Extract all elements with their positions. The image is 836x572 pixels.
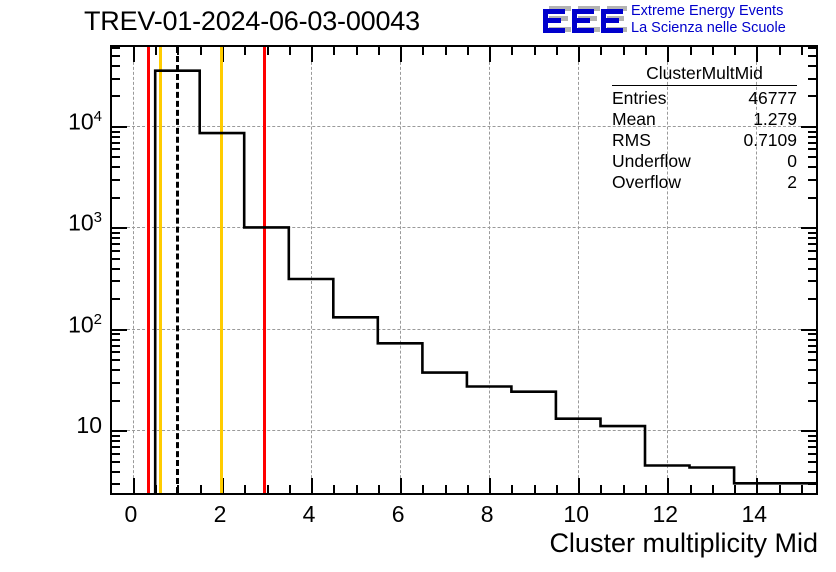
stats-key: RMS: [612, 130, 657, 151]
stats-box: ClusterMultMid Entries46777Mean1.279RMS0…: [612, 63, 797, 193]
stats-title: ClusterMultMid: [612, 63, 797, 86]
stats-value: 0: [787, 151, 797, 172]
stats-row: RMS0.7109: [612, 130, 797, 151]
eee-logo-line2: La Scienza nelle Scuole: [631, 20, 786, 37]
x-tick-label: 14: [724, 501, 784, 528]
x-tick-label: 12: [635, 501, 695, 528]
chart-canvas: TREV-01-2024-06-03-00043 Extreme Energy …: [0, 0, 836, 572]
x-tick-label: 2: [190, 501, 250, 528]
stats-row: Mean1.279: [612, 109, 797, 130]
y-tick-label: 10: [2, 412, 102, 439]
stats-row: Entries46777: [612, 88, 797, 109]
stats-key: Mean: [612, 109, 662, 130]
y-tick-label: 103: [2, 209, 102, 237]
stats-value: 46777: [748, 88, 797, 109]
y-tick-label: 102: [2, 311, 102, 339]
stats-key: Overflow: [612, 172, 687, 193]
eee-logo-icon: [541, 4, 627, 36]
y-tick-label: 104: [2, 108, 102, 136]
stats-rows: Entries46777Mean1.279RMS0.7109Underflow0…: [612, 88, 797, 193]
stats-key: Underflow: [612, 151, 697, 172]
x-tick-label: 10: [546, 501, 606, 528]
eee-logo-line1: Extreme Energy Events: [631, 3, 786, 20]
stats-value: 1.279: [753, 109, 797, 130]
x-tick-label: 8: [457, 501, 517, 528]
stats-value: 0.7109: [743, 130, 797, 151]
x-tick-label: 4: [279, 501, 339, 528]
stats-row: Underflow0: [612, 151, 797, 172]
x-axis-title: Cluster multiplicity Mid: [549, 528, 818, 559]
stats-value: 2: [787, 172, 797, 193]
x-tick-label: 0: [101, 501, 161, 528]
stats-row: Overflow2: [612, 172, 797, 193]
page-title: TREV-01-2024-06-03-00043: [84, 6, 420, 37]
eee-logo: Extreme Energy Events La Scienza nelle S…: [541, 2, 836, 42]
stats-key: Entries: [612, 88, 672, 109]
x-tick-label: 6: [368, 501, 428, 528]
eee-logo-text: Extreme Energy Events La Scienza nelle S…: [631, 3, 786, 37]
